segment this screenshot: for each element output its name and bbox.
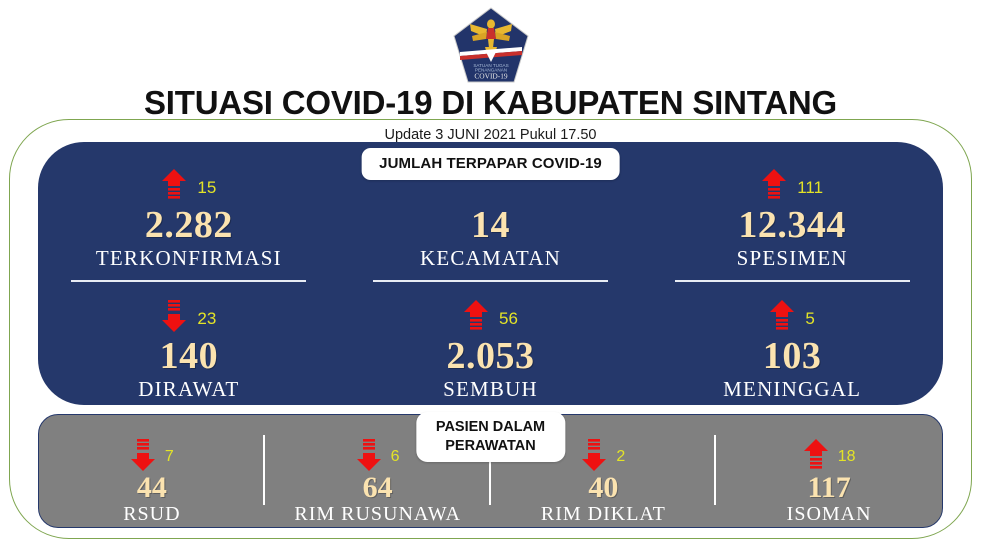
facility-value: 44 [137,472,167,504]
main-stat-grid: 152.282TERKONFIRMASI14KECAMATAN11112.344… [38,142,943,405]
delta-value: 6 [391,448,400,466]
stat-cell-terkonfirmasi: 152.282TERKONFIRMASI [38,142,340,280]
stat-value: 2.282 [145,206,233,245]
delta-row: 7 [130,438,174,472]
stat-label: SEMBUH [443,377,538,401]
badge-pasien-dalam-perawatan: PASIEN DALAM PERAWATAN [416,412,565,462]
stat-value: 14 [471,206,510,245]
terpapar-panel: 152.282TERKONFIRMASI14KECAMATAN11112.344… [38,142,943,405]
satgas-covid19-logo-icon: SATUAN TUGAS PENANGANAN COVID-19 [452,6,530,86]
stat-label: TERKONFIRMASI [96,246,282,270]
arrow-up-icon [761,168,787,202]
facility-value: 117 [807,472,850,504]
facility-cell-rsud: 744RSUD [39,415,265,527]
facility-cell-isoman: 18117ISOMAN [716,415,942,527]
update-timestamp: Update 3 JUNI 2021 Pukul 17.50 [0,127,981,143]
page-header: SATUAN TUGAS PENANGANAN COVID-19 SITUASI… [0,0,981,145]
facility-label: ISOMAN [787,503,872,525]
delta-value: 5 [805,310,814,327]
delta-row: 23 [161,295,216,337]
delta-row: 111 [761,164,823,206]
facility-value: 64 [363,472,393,504]
arrow-down-icon [130,438,156,472]
arrow-up-icon [803,438,829,472]
delta-value: 111 [797,179,823,196]
stat-label: DIRAWAT [138,377,239,401]
page-title: SITUASI COVID-19 DI KABUPATEN SINTANG [0,84,981,122]
facility-label: RSUD [123,503,180,525]
delta-value: 2 [616,448,625,466]
stat-label: SPESIMEN [737,246,848,270]
delta-row: 6 [356,438,400,472]
badge-pasien-line2: PERAWATAN [436,437,545,456]
arrow-down-icon [581,438,607,472]
delta-value: 18 [838,448,856,466]
delta-row: 5 [769,295,814,337]
stat-cell-dirawat: 23140DIRAWAT [38,280,340,405]
badge-jumlah-terpapar: JUMLAH TERPAPAR COVID-19 [361,148,620,180]
stat-value: 103 [763,337,822,376]
arrow-up-icon [769,299,795,333]
stat-label: MENINGGAL [723,377,861,401]
stat-value: 140 [160,337,219,376]
stat-label: KECAMATAN [420,246,561,270]
badge-pasien-line1: PASIEN DALAM [436,418,545,437]
logo-line3: COVID-19 [474,72,508,81]
facility-label: RIM DIKLAT [541,503,666,525]
delta-value: 15 [197,179,216,196]
arrow-down-icon [161,299,187,333]
delta-row: 56 [463,295,518,337]
arrow-up-icon [463,299,489,333]
stat-cell-spesimen: 11112.344SPESIMEN [641,142,943,280]
arrow-down-icon [356,438,382,472]
stat-value: 2.053 [446,337,534,376]
delta-value: 56 [499,310,518,327]
facility-value: 40 [588,472,618,504]
delta-value: 7 [165,448,174,466]
stat-value: 12.344 [738,206,846,245]
delta-row: 2 [581,438,625,472]
facility-label: RIM RUSUNAWA [294,503,461,525]
stat-cell-sembuh: 562.053SEMBUH [340,280,642,405]
arrow-up-icon [161,168,187,202]
delta-value: 23 [197,310,216,327]
delta-row: 15 [161,164,216,206]
stat-cell-meninggal: 5103MENINGGAL [641,280,943,405]
delta-row: 18 [803,438,856,472]
